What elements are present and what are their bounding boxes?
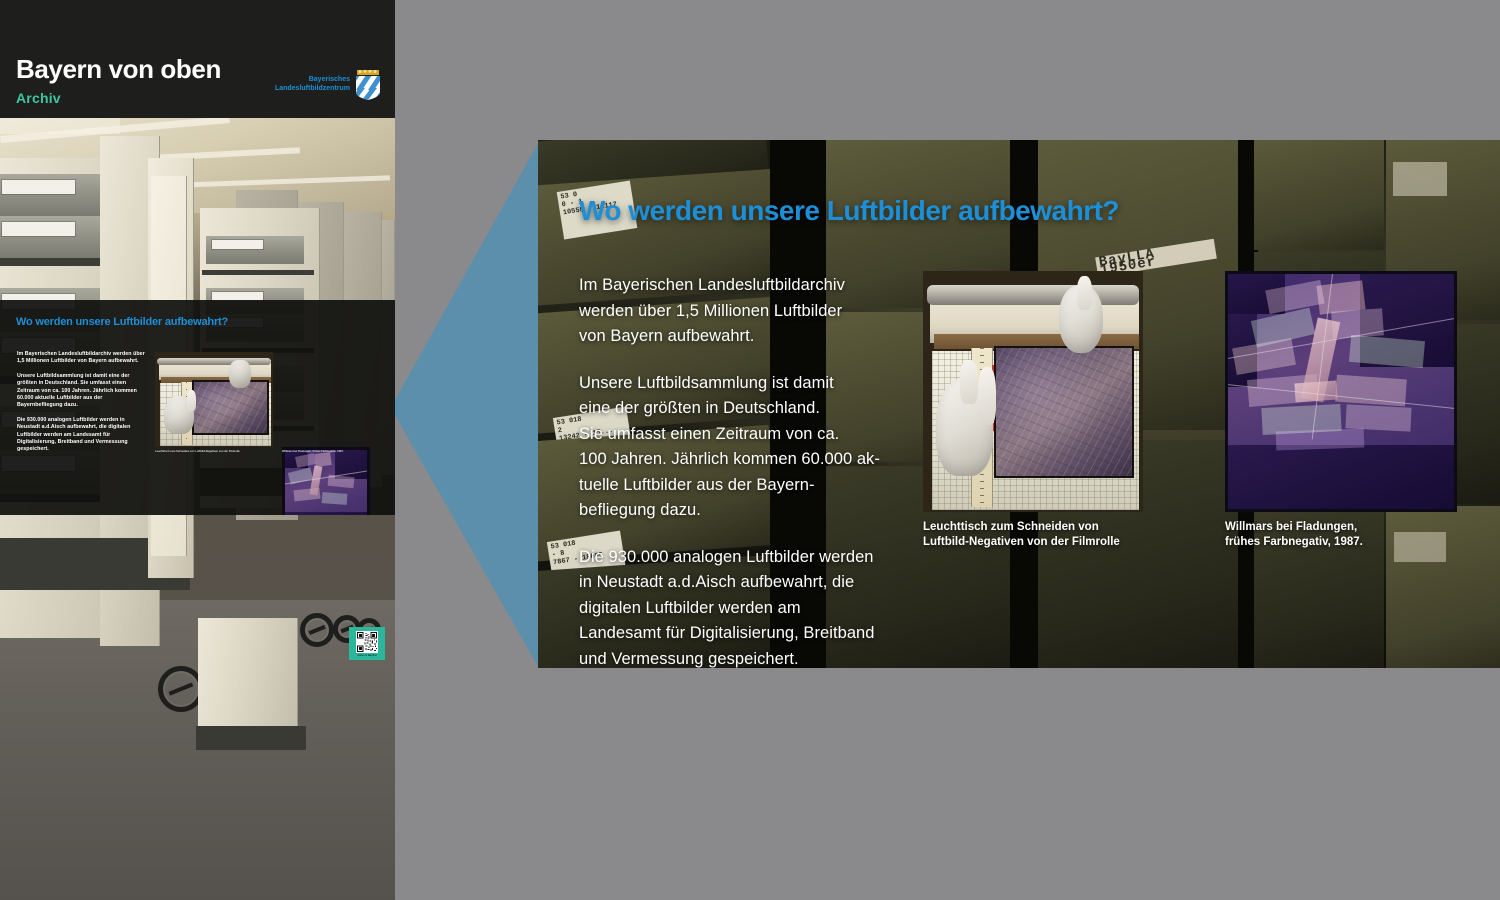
poster-paragraph: Die 930.000 analogen Luftbilder werden i…	[17, 417, 147, 454]
figure-lighttable: Leuchttisch zum Schneiden von Luftbild-N…	[923, 271, 1143, 549]
panel-paragraph-3: Die 930.000 analogen Luftbilder werden i…	[579, 545, 909, 669]
poster-heading: Wo werden unsere Luftbilder aufbewahrt?	[16, 316, 228, 328]
poster-topnote	[279, 302, 389, 306]
bavaria-coat-of-arms-icon	[355, 70, 381, 100]
poster-paragraph: Im Bayerischen Landesluftbildarchiv werd…	[17, 351, 147, 366]
poster-lighttable-photo	[155, 352, 273, 447]
poster-figure-caption: Willmars bei Fladungen, frühes Farbnegat…	[282, 450, 395, 453]
poster-figure-caption: Leuchttisch zum Schneiden von Luftbild-N…	[155, 450, 285, 453]
logo-text: Bayerisches Landesluftbildzentrum	[275, 76, 350, 93]
poster-header: Bayern von oben Archiv Bayerisches Lande…	[0, 0, 395, 118]
page-subtitle: Archiv	[16, 90, 61, 106]
panel-paragraph-2: Unsere Luftbildsammlung ist damit eine d…	[579, 371, 909, 524]
panel-text-body: Im Bayerischen Landesluftbildarchiv werd…	[579, 273, 909, 668]
exhibition-poster-board: mehr zu Bayern Wo werden unsere Luftbild…	[0, 0, 395, 900]
screenshot-stage: mehr zu Bayern Wo werden unsere Luftbild…	[0, 0, 1500, 900]
shelf-handwheel	[300, 613, 334, 647]
page-title: Bayern von oben	[16, 56, 221, 82]
qr-caption: mehr zu Bayern	[357, 654, 376, 657]
poster-aerial-negative-photo	[282, 447, 370, 515]
zoom-connector-wedge	[395, 140, 540, 670]
qr-code-badge[interactable]: mehr zu Bayern	[349, 627, 385, 660]
detail-zoom-panel: 53 0 0 - 1 10555 - 13117 53 018 2 13242 …	[538, 140, 1500, 668]
logo: Bayerisches Landesluftbildzentrum	[275, 68, 381, 102]
aerial-negative-photo	[1225, 271, 1457, 512]
poster-content-block: Wo werden unsere Luftbilder aufbewahrt? …	[0, 300, 395, 515]
panel-heading: Wo werden unsere Luftbilder aufbewahrt?	[579, 195, 1119, 227]
figure-caption: Willmars bei Fladungen, frühes Farbnegat…	[1225, 520, 1457, 549]
figure-caption: Leuchttisch zum Schneiden von Luftbild-N…	[923, 520, 1143, 549]
panel-paragraph-1: Im Bayerischen Landesluftbildarchiv werd…	[579, 273, 909, 350]
figure-aerial-negative: Willmars bei Fladungen, frühes Farbnegat…	[1225, 271, 1457, 549]
poster-text-body: Im Bayerischen Landesluftbildarchiv werd…	[17, 351, 147, 461]
poster-paragraph: Unsere Luftbildsammlung ist damit eine d…	[17, 373, 147, 410]
lighttable-photo	[923, 271, 1143, 512]
qr-code-icon	[356, 631, 378, 653]
archive-box-label	[1393, 162, 1447, 196]
